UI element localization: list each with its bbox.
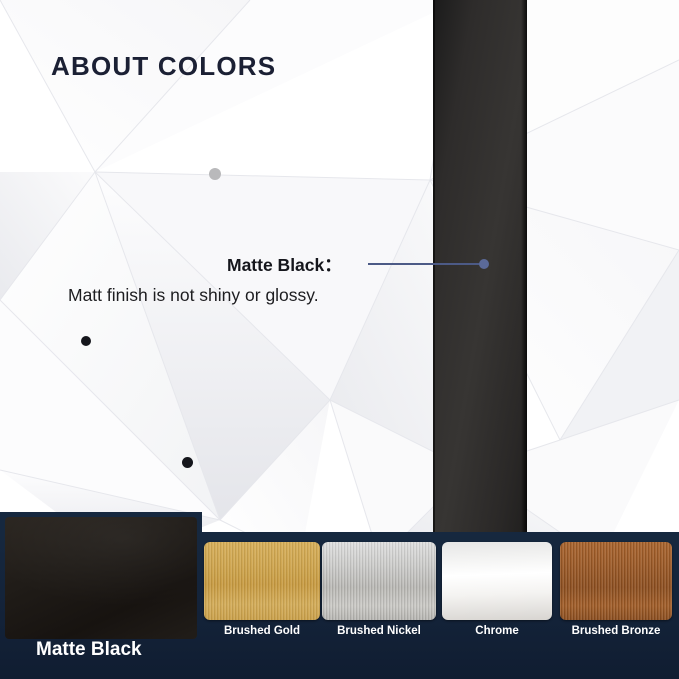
swatch-surface-matte-black: [5, 517, 197, 639]
callout-leader-dot: [479, 259, 489, 269]
swatch-caption-brushed-bronze: Brushed Bronze: [558, 625, 674, 637]
swatch-brushed-nickel[interactable]: [322, 542, 436, 620]
swatch-brushed-gold[interactable]: [204, 542, 320, 620]
swatch-surface-brushed-nickel: [322, 542, 436, 620]
swatch-surface-brushed-gold: [204, 542, 320, 620]
swatch-bar: Matte Black Brushed Gold Brushed Nickel …: [0, 532, 679, 679]
swatch-caption-matte-black: Matte Black: [36, 639, 236, 661]
gray-vertex-dot: [209, 168, 221, 180]
swatch-matte-black[interactable]: [5, 517, 197, 639]
callout-leader-line: [368, 263, 481, 265]
callout-label: Matte Black：: [227, 252, 342, 277]
dark-vertex-dot-upper: [81, 336, 91, 346]
swatch-chrome[interactable]: [442, 542, 552, 620]
swatch-surface-brushed-bronze: [560, 542, 672, 620]
swatch-surface-chrome: [442, 542, 552, 620]
stripe-left-edge: [433, 0, 435, 532]
swatch-caption-brushed-gold: Brushed Gold: [204, 625, 320, 637]
swatch-caption-chrome: Chrome: [442, 625, 552, 637]
stripe-right-edge: [521, 0, 527, 532]
callout-description: Matt finish is not shiny or glossy.: [68, 285, 319, 306]
dark-vertex-dot-lower: [182, 457, 193, 468]
page-title: ABOUT COLORS: [51, 51, 276, 82]
infographic-canvas: ABOUT COLORS Matte Black： Matt finish is…: [0, 0, 679, 679]
swatch-brushed-bronze[interactable]: [560, 542, 672, 620]
swatch-caption-brushed-nickel: Brushed Nickel: [320, 625, 438, 637]
